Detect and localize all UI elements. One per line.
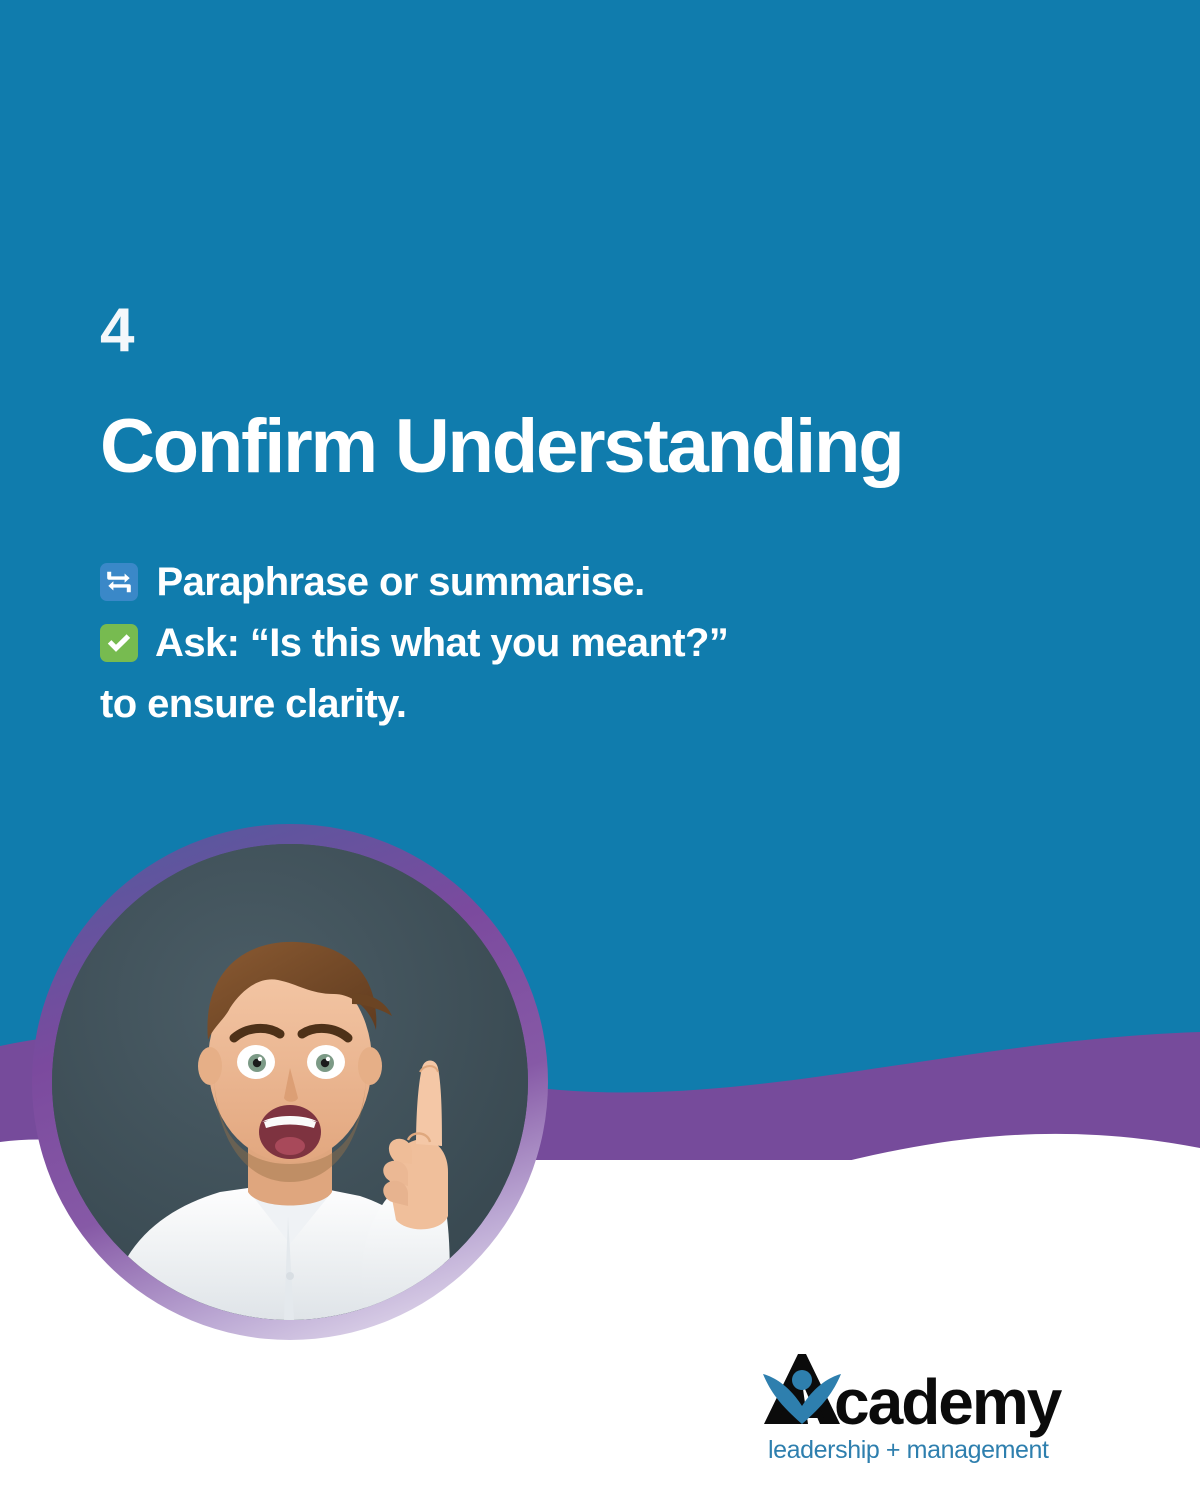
logo-wordmark: cademy: [834, 1366, 1063, 1438]
page-title: Confirm Understanding: [100, 407, 1000, 487]
body-line-2-text: Ask: “Is this what you meant?”: [155, 621, 728, 665]
portrait-illustration: [52, 844, 528, 1320]
body-line-1: Paraphrase or summarise.: [100, 552, 940, 613]
body-line-3-text: to ensure clarity.: [100, 682, 406, 726]
step-number: 4: [100, 300, 1000, 362]
logo-tagline: leadership + management: [768, 1436, 1049, 1464]
headline-block: 4 Confirm Understanding: [100, 300, 1000, 487]
slide-canvas: 4 Confirm Understanding Paraphrase or su…: [0, 0, 1200, 1500]
logo-svg: cademy leadership + management: [762, 1352, 1122, 1472]
check-mark-icon: [100, 624, 138, 662]
body-copy: Paraphrase or summarise. Ask: “Is this w…: [100, 552, 940, 734]
body-line-1-text: Paraphrase or summarise.: [157, 560, 645, 604]
academy-logo: cademy leadership + management: [762, 1352, 1122, 1472]
repeat-icon: [100, 563, 138, 601]
body-line-2: Ask: “Is this what you meant?”: [100, 613, 940, 674]
avatar: [52, 844, 528, 1320]
body-line-3: to ensure clarity.: [100, 674, 940, 735]
